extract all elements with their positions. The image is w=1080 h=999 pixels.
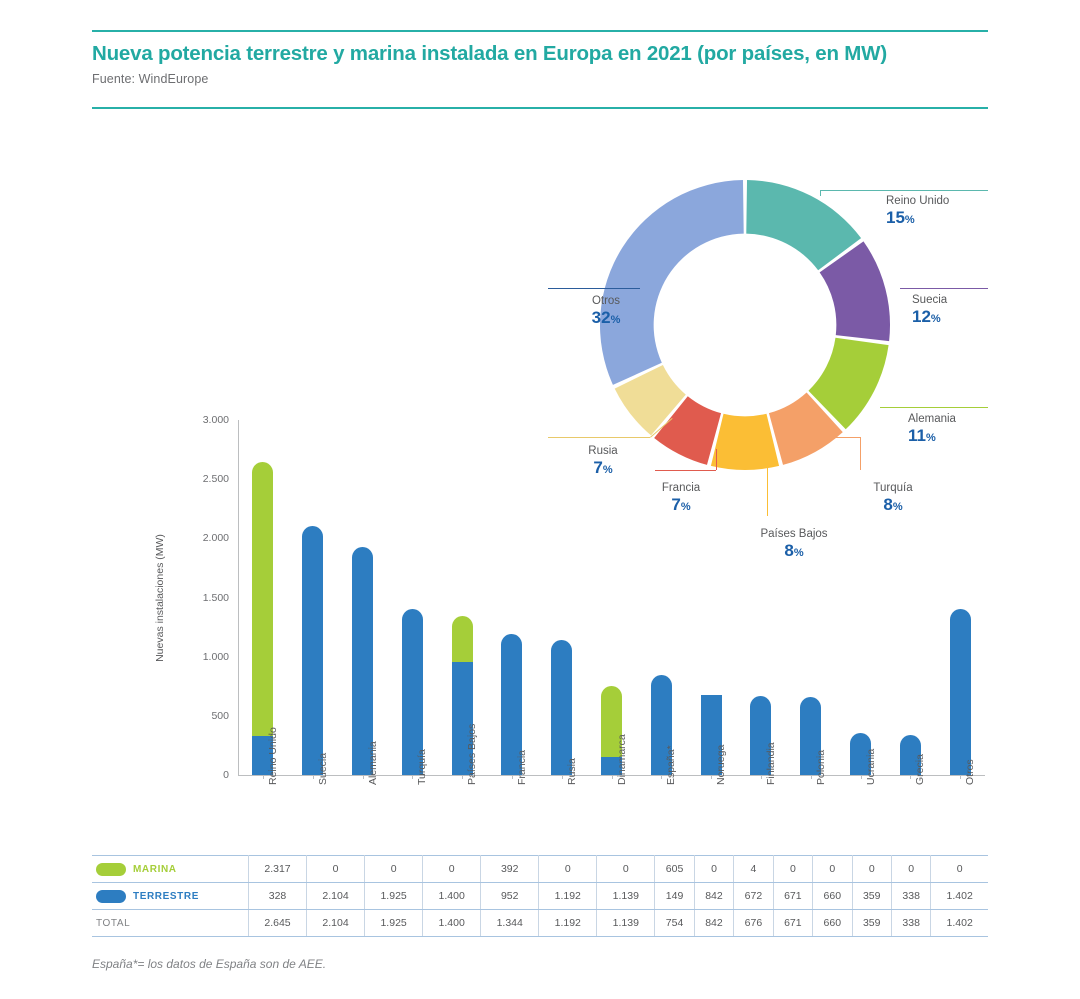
x-axis-tick bbox=[512, 775, 513, 779]
callout-leader-line bbox=[767, 447, 768, 516]
x-axis-tick bbox=[412, 775, 413, 779]
callout-leader-line bbox=[548, 437, 650, 438]
x-axis-category-label: España* bbox=[665, 745, 677, 785]
callout-leader-line bbox=[820, 190, 821, 196]
callout-leader-line bbox=[820, 437, 860, 438]
x-axis-category-label: Francia bbox=[516, 750, 528, 785]
bar-segment-marina bbox=[452, 616, 473, 662]
donut-callout-label: Países Bajos8% bbox=[724, 527, 864, 561]
table-cell: 952 bbox=[481, 883, 539, 910]
table-cell: 1.402 bbox=[931, 883, 988, 910]
table-cell: 2.317 bbox=[249, 856, 307, 883]
table-cell: 4 bbox=[734, 856, 773, 883]
x-axis-category-label: Reino Unido bbox=[267, 727, 279, 785]
legend-label: MARINA bbox=[133, 864, 177, 875]
donut-callout-percent: 7% bbox=[553, 458, 653, 478]
y-axis-tick-label: 2.500 bbox=[198, 473, 238, 485]
x-axis-tick bbox=[363, 775, 364, 779]
callout-leader-line bbox=[820, 190, 988, 191]
table-row-marina: MARINA2.317000392006050400000 bbox=[92, 856, 988, 883]
donut-callout-name: Países Bajos bbox=[724, 527, 864, 541]
table-cell: 754 bbox=[655, 910, 694, 937]
table-cell: 842 bbox=[694, 883, 733, 910]
x-axis-category-label: Finlandia bbox=[765, 742, 777, 785]
legend-swatch bbox=[96, 863, 126, 876]
x-axis-tick bbox=[861, 775, 862, 779]
donut-callout-percent: 32% bbox=[551, 308, 661, 328]
callout-leader-line bbox=[548, 288, 640, 289]
table-cell: 0 bbox=[813, 856, 852, 883]
donut-callout-percent: 11% bbox=[908, 426, 1028, 446]
x-axis-tick bbox=[960, 775, 961, 779]
x-axis-tick bbox=[661, 775, 662, 779]
x-axis-tick bbox=[313, 775, 314, 779]
table-cell: 1.139 bbox=[597, 910, 655, 937]
y-axis-tick-label: 2.000 bbox=[198, 532, 238, 544]
table-cell: 1.344 bbox=[481, 910, 539, 937]
x-axis-category-label: Polonia bbox=[815, 750, 827, 785]
donut-callout-percent: 15% bbox=[886, 208, 1036, 228]
table-cell: 392 bbox=[481, 856, 539, 883]
y-axis-tick-label: 0 bbox=[198, 769, 238, 781]
donut-callout-label: Turquía8% bbox=[838, 481, 948, 515]
donut-callout-label: Rusia7% bbox=[553, 444, 653, 478]
table-cell: 0 bbox=[539, 856, 597, 883]
donut-slice[interactable] bbox=[600, 180, 744, 385]
table-cell: 672 bbox=[734, 883, 773, 910]
bar-segment-marina bbox=[252, 462, 273, 736]
donut-slice[interactable] bbox=[711, 414, 779, 470]
x-axis-tick bbox=[462, 775, 463, 779]
table-cell: 359 bbox=[852, 883, 891, 910]
table-cell: 0 bbox=[597, 856, 655, 883]
x-axis-category-label: Países Bajos bbox=[466, 724, 478, 785]
donut-callout-label: Francia7% bbox=[626, 481, 736, 515]
donut-callout-label: Reino Unido15% bbox=[886, 194, 1036, 228]
table-cell: 842 bbox=[694, 910, 733, 937]
table-cell: 0 bbox=[365, 856, 423, 883]
x-axis-category-label: Ucrania bbox=[865, 749, 877, 785]
donut-callout-percent: 8% bbox=[724, 541, 864, 561]
table-cell: 338 bbox=[891, 883, 930, 910]
table-cell: 660 bbox=[813, 910, 852, 937]
donut-callout-name: Francia bbox=[626, 481, 736, 495]
x-axis-category-label: Grecia bbox=[914, 754, 926, 785]
callout-leader-line bbox=[655, 470, 716, 471]
table-row-terrestre: TERRESTRE3282.1041.9251.4009521.1921.139… bbox=[92, 883, 988, 910]
table-cell: 676 bbox=[734, 910, 773, 937]
donut-callout-name: Suecia bbox=[912, 293, 1032, 307]
donut-callout-percent: 12% bbox=[912, 307, 1032, 327]
callout-leader-line bbox=[860, 437, 861, 470]
table-cell: 671 bbox=[773, 883, 812, 910]
donut-callout-label: Suecia12% bbox=[912, 293, 1032, 327]
table-cell: 0 bbox=[931, 856, 988, 883]
x-axis-category-label: Dinamarca bbox=[616, 734, 628, 785]
table-cell: 660 bbox=[813, 883, 852, 910]
legend-swatch bbox=[96, 890, 126, 903]
legend-label: TERRESTRE bbox=[133, 891, 199, 902]
x-axis-category-label: Turquía bbox=[416, 749, 428, 785]
table-cell: 1.400 bbox=[423, 910, 481, 937]
x-axis-tick bbox=[711, 775, 712, 779]
bar-segment-terrestre bbox=[302, 526, 323, 775]
donut-callout-label: Otros32% bbox=[551, 294, 661, 328]
x-axis-category-label: Otros bbox=[964, 759, 976, 785]
table-row-label: TOTAL bbox=[92, 910, 249, 937]
y-axis-tick-label: 1.500 bbox=[198, 592, 238, 604]
bar-segment-terrestre bbox=[950, 609, 971, 775]
table-cell: 605 bbox=[655, 856, 694, 883]
footnote: España*= los datos de España son de AEE. bbox=[92, 957, 326, 971]
x-axis-tick bbox=[612, 775, 613, 779]
infographic-page: Nueva potencia terrestre y marina instal… bbox=[0, 0, 1080, 999]
table-row-label: TERRESTRE bbox=[92, 883, 249, 910]
table-cell: 1.400 bbox=[423, 883, 481, 910]
y-axis-tick-label: 500 bbox=[198, 710, 238, 722]
table-cell: 0 bbox=[773, 856, 812, 883]
table-cell: 2.645 bbox=[249, 910, 307, 937]
legend-label: TOTAL bbox=[96, 918, 130, 929]
table-cell: 1.192 bbox=[539, 883, 597, 910]
y-axis-tick-label: 3.000 bbox=[198, 414, 238, 426]
table-cell: 149 bbox=[655, 883, 694, 910]
table-cell: 0 bbox=[891, 856, 930, 883]
x-axis-category-label: Suecia bbox=[317, 753, 329, 785]
x-axis-tick bbox=[761, 775, 762, 779]
table-cell: 1.192 bbox=[539, 910, 597, 937]
table-cell: 359 bbox=[852, 910, 891, 937]
callout-leader-line bbox=[716, 449, 717, 470]
x-axis-category-label: Rusia bbox=[566, 758, 578, 785]
x-axis-category-label: Noruega bbox=[715, 745, 727, 785]
table-cell: 1.139 bbox=[597, 883, 655, 910]
table-cell: 338 bbox=[891, 910, 930, 937]
callout-leader-line bbox=[900, 288, 988, 289]
table-cell: 0 bbox=[852, 856, 891, 883]
bar-column[interactable] bbox=[551, 640, 572, 775]
x-axis-category-label: Alemania bbox=[367, 741, 379, 785]
y-axis-tick-label: 1.000 bbox=[198, 651, 238, 663]
data-table: MARINA2.317000392006050400000TERRESTRE32… bbox=[92, 855, 988, 937]
callout-leader-line bbox=[880, 407, 988, 408]
table-cell: 1.925 bbox=[365, 883, 423, 910]
donut-callout-percent: 8% bbox=[838, 495, 948, 515]
table-cell: 1.925 bbox=[365, 910, 423, 937]
x-axis-tick bbox=[910, 775, 911, 779]
donut-callout-name: Reino Unido bbox=[886, 194, 1036, 208]
y-axis-title: Nuevas instalaciones (MW) bbox=[154, 534, 166, 662]
table-cell: 0 bbox=[307, 856, 365, 883]
x-axis-tick bbox=[263, 775, 264, 779]
table-cell: 0 bbox=[423, 856, 481, 883]
x-axis-tick bbox=[562, 775, 563, 779]
table-cell: 2.104 bbox=[307, 883, 365, 910]
table-cell: 0 bbox=[694, 856, 733, 883]
donut-callout-name: Otros bbox=[551, 294, 661, 308]
table-row-total: TOTAL2.6452.1041.9251.4001.3441.1921.139… bbox=[92, 910, 988, 937]
donut-callout-name: Turquía bbox=[838, 481, 948, 495]
x-axis-tick bbox=[811, 775, 812, 779]
bar-segment-terrestre bbox=[551, 640, 572, 775]
bar-column[interactable] bbox=[950, 609, 971, 775]
table-cell: 328 bbox=[249, 883, 307, 910]
y-axis-line bbox=[238, 420, 239, 775]
donut-callout-percent: 7% bbox=[626, 495, 736, 515]
table-cell: 1.402 bbox=[931, 910, 988, 937]
donut-callout-name: Rusia bbox=[553, 444, 653, 458]
table-cell: 2.104 bbox=[307, 910, 365, 937]
bar-column[interactable] bbox=[302, 526, 323, 775]
donut-callout-name: Alemania bbox=[908, 412, 1028, 426]
donut-callout-label: Alemania11% bbox=[908, 412, 1028, 446]
table-row-label: MARINA bbox=[92, 856, 249, 883]
table-cell: 671 bbox=[773, 910, 812, 937]
